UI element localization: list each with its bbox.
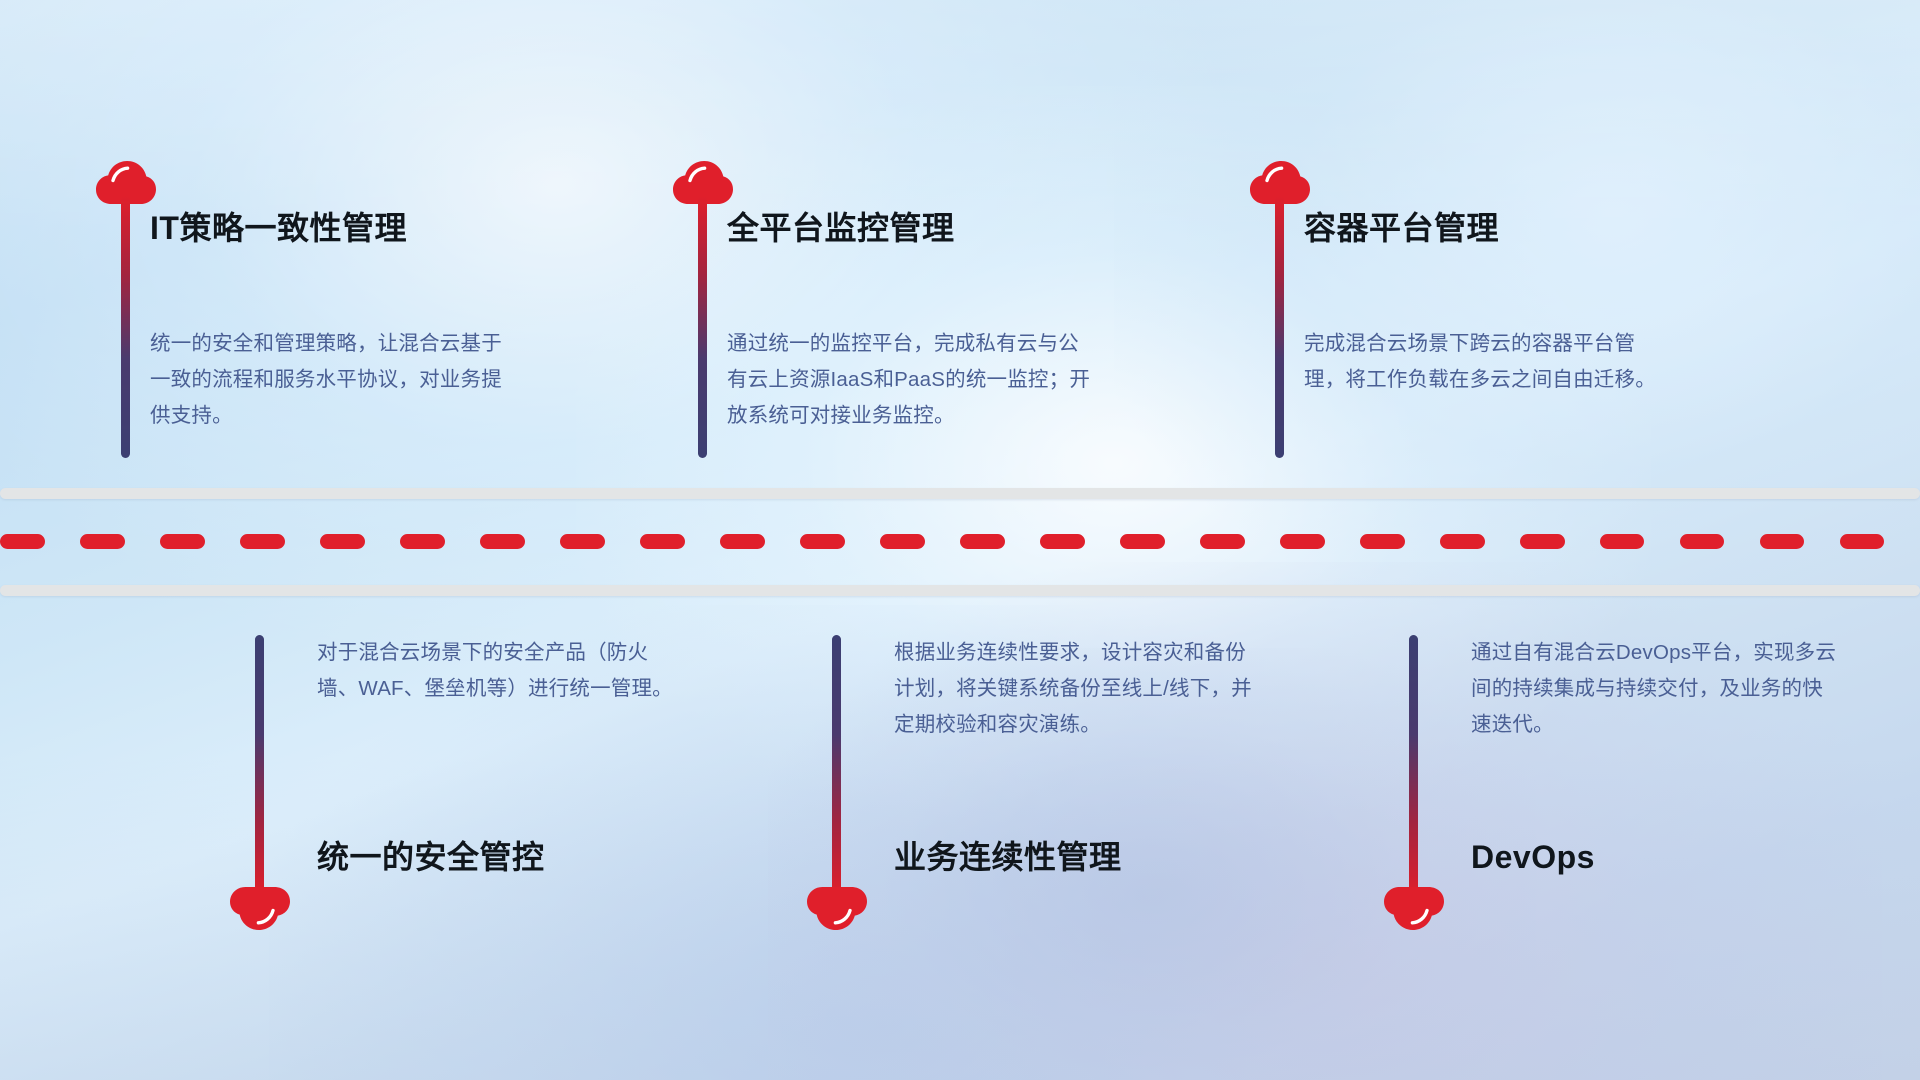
cloud-icon: [229, 885, 291, 931]
road-dash: [400, 534, 445, 549]
road-dash: [1760, 534, 1805, 549]
card-description: 通过统一的监控平台，完成私有云与公有云上资源IaaS和PaaS的统一监控；开放系…: [727, 326, 1097, 434]
card-title: 业务连续性管理: [894, 841, 1122, 873]
card-description: 对于混合云场景下的安全产品（防火墙、WAF、堡垒机等）进行统一管理。: [317, 635, 687, 707]
road-dash: [640, 534, 685, 549]
connector-stem: [121, 196, 130, 458]
road-dash: [1520, 534, 1565, 549]
card-title: 容器平台管理: [1304, 212, 1499, 244]
connector-stem: [1409, 635, 1418, 897]
road-dash: [80, 534, 125, 549]
road-dash: [160, 534, 205, 549]
road-dash: [560, 534, 605, 549]
road-dash: [240, 534, 285, 549]
road-dash: [1360, 534, 1405, 549]
road-dashed-centerline: [0, 533, 1920, 549]
connector-stem: [1275, 196, 1284, 458]
card-description: 通过自有混合云DevOps平台，实现多云间的持续集成与持续交付，及业务的快速迭代…: [1471, 635, 1841, 743]
road-dash: [480, 534, 525, 549]
card-description: 统一的安全和管理策略，让混合云基于一致的流程和服务水平协议，对业务提供支持。: [150, 326, 520, 434]
road-divider: [0, 488, 1920, 596]
road-dash: [800, 534, 845, 549]
road-dash: [1440, 534, 1485, 549]
card-title: IT策略一致性管理: [150, 212, 407, 244]
road-dash: [1680, 534, 1725, 549]
connector-stem: [698, 196, 707, 458]
road-dash: [1200, 534, 1245, 549]
road-dash: [1120, 534, 1165, 549]
cloud-icon: [1383, 885, 1445, 931]
card-title: 统一的安全管控: [317, 841, 545, 873]
road-edge-bottom: [0, 585, 1920, 596]
connector-stem: [832, 635, 841, 897]
connector-stem: [255, 635, 264, 897]
card-title: DevOps: [1471, 841, 1595, 873]
road-dash: [960, 534, 1005, 549]
road-dash: [1600, 534, 1645, 549]
card-title: 全平台监控管理: [727, 212, 955, 244]
road-dash: [720, 534, 765, 549]
cloud-icon: [806, 885, 868, 931]
card-description: 根据业务连续性要求，设计容灾和备份计划，将关键系统备份至线上/线下，并定期校验和…: [894, 635, 1264, 743]
card-description: 完成混合云场景下跨云的容器平台管理，将工作负载在多云之间自由迁移。: [1304, 326, 1674, 398]
road-dash: [1280, 534, 1325, 549]
road-edge-top: [0, 488, 1920, 499]
road-dash: [1040, 534, 1085, 549]
road-dash: [1840, 534, 1885, 549]
road-dash: [0, 534, 45, 549]
road-dash: [320, 534, 365, 549]
infographic-canvas: IT策略一致性管理 统一的安全和管理策略，让混合云基于一致的流程和服务水平协议，…: [0, 0, 1920, 1080]
road-dash: [880, 534, 925, 549]
